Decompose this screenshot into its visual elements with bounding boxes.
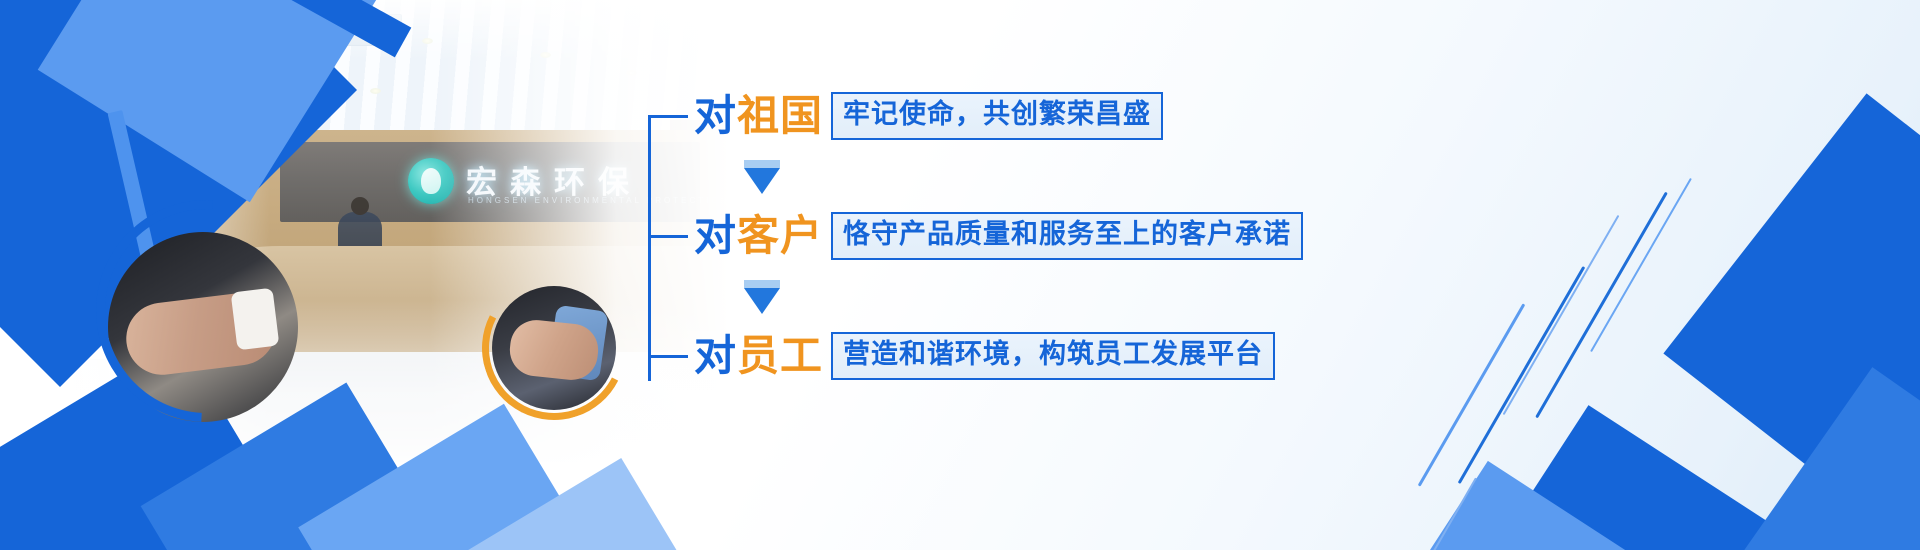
value-row-country: 对祖国 牢记使命，共创繁荣昌盛 <box>648 88 1163 144</box>
value-label-customer: 对客户 <box>694 215 823 257</box>
value-description-country: 牢记使命，共创繁荣昌盛 <box>831 92 1163 139</box>
value-prefix: 对 <box>694 212 737 259</box>
value-subject: 客户 <box>737 212 823 259</box>
triangle-body <box>744 288 780 314</box>
bracket-tick-icon <box>648 235 688 238</box>
value-prefix: 对 <box>694 92 737 139</box>
bracket-tick-icon <box>648 115 688 118</box>
triangle-body <box>744 168 780 194</box>
value-label-country: 对祖国 <box>694 95 823 137</box>
value-prefix: 对 <box>694 332 737 379</box>
values-list: 对祖国 牢记使命，共创繁荣昌盛 对客户 恪守产品质量和服务至上的客户承诺 对员工… <box>648 78 1368 408</box>
decor-line <box>1503 215 1620 415</box>
triangle-cap <box>744 160 780 168</box>
decor-line <box>1590 178 1692 352</box>
decor-line <box>1535 192 1668 419</box>
value-description-customer: 恪守产品质量和服务至上的客户承诺 <box>831 212 1303 259</box>
value-subject: 员工 <box>737 332 823 379</box>
bracket-tick-icon <box>648 355 688 358</box>
value-description-employee: 营造和谐环境，构筑员工发展平台 <box>831 332 1275 379</box>
value-label-employee: 对员工 <box>694 335 823 377</box>
corporate-values-banner: 宏森环保 HONGSEN ENVIRONMENTAL PROTECTION <box>0 0 1920 550</box>
value-row-employee: 对员工 营造和谐环境，构筑员工发展平台 <box>648 328 1275 384</box>
triangle-cap <box>744 280 780 288</box>
value-row-customer: 对客户 恪守产品质量和服务至上的客户承诺 <box>648 208 1303 264</box>
value-subject: 祖国 <box>737 92 823 139</box>
downlight <box>370 88 381 94</box>
